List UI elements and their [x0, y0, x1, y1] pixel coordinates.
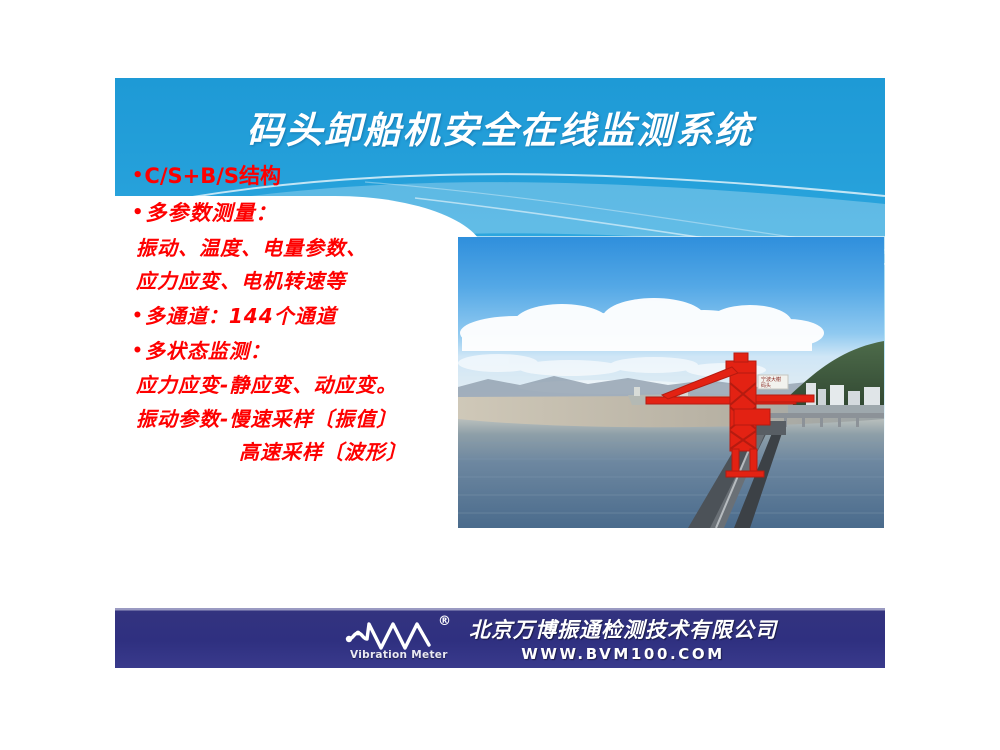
footer-content: ® Vibration Meter 北京万博振通检测技术有限公司 WWW.BVM…	[343, 608, 777, 668]
list-item: 应力应变、电机转速等	[121, 271, 481, 291]
company-name: 北京万博振通检测技术有限公司	[469, 614, 777, 644]
list-item: 多参数测量：	[121, 203, 481, 224]
company-url: WWW.BVM100.COM	[469, 645, 777, 663]
slide-canvas: 码头卸船机安全在线监测系统 C/S+B/S结构 多参数测量： 振动、温度、电量参…	[0, 0, 1000, 750]
bullet-list: C/S+B/S结构 多参数测量： 振动、温度、电量参数、 应力应变、电机转速等 …	[121, 166, 481, 462]
slide-body: 码头卸船机安全在线监测系统 C/S+B/S结构 多参数测量： 振动、温度、电量参…	[115, 78, 885, 528]
photo-artwork: 宁波大榭 码头	[458, 237, 884, 528]
registered-mark-icon: ®	[438, 614, 451, 629]
footer-bar: ® Vibration Meter 北京万博振通检测技术有限公司 WWW.BVM…	[115, 608, 885, 668]
vibration-wave-logo-icon: ® Vibration Meter	[343, 615, 455, 661]
svg-text:码头: 码头	[761, 382, 771, 389]
list-item: 多状态监测：	[121, 341, 481, 361]
list-item: 多通道：144个通道	[121, 306, 481, 326]
list-item: C/S+B/S结构	[121, 166, 481, 187]
list-item: 高速采样〔波形〕	[121, 442, 481, 462]
list-item: 振动参数-慢速采样〔振值〕	[121, 409, 481, 429]
svg-text:宁波大榭: 宁波大榭	[761, 376, 781, 383]
list-item: 振动、温度、电量参数、	[121, 238, 481, 258]
ship-unloader-photo: 宁波大榭 码头	[458, 237, 884, 528]
page-title: 码头卸船机安全在线监测系统	[115, 100, 885, 154]
list-item: 应力应变-静应变、动应变。	[121, 375, 481, 395]
company-block: 北京万博振通检测技术有限公司 WWW.BVM100.COM	[469, 614, 777, 663]
logo-subtitle: Vibration Meter	[350, 649, 448, 661]
